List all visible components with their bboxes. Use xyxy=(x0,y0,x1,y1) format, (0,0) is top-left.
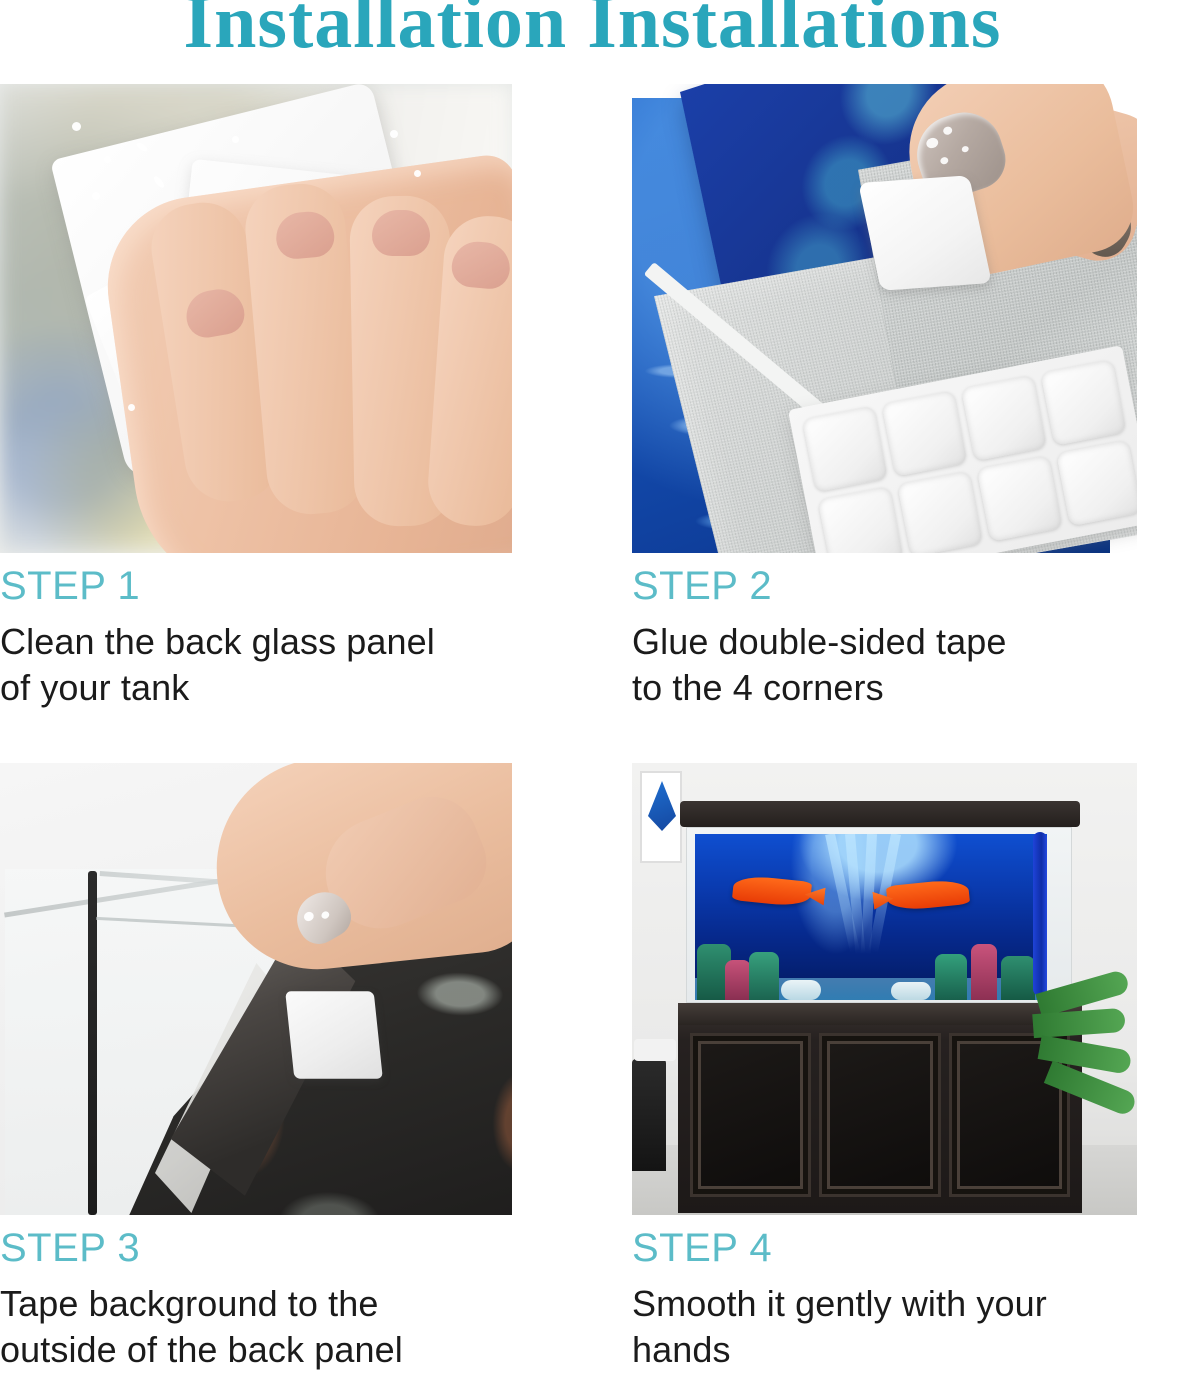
nail-glitter xyxy=(939,156,949,165)
arowana-fish-left xyxy=(732,874,812,908)
fingernail-middle xyxy=(372,210,430,256)
nail-glitter xyxy=(961,145,970,153)
cabinet-door xyxy=(819,1033,940,1197)
step-1-text-line2: of your tank xyxy=(0,665,512,711)
cabinet-top xyxy=(678,1003,1082,1025)
adhesive-pad xyxy=(897,471,983,553)
house-plant xyxy=(1033,977,1137,1157)
page-title-container: Installation Installations xyxy=(0,0,1185,58)
coral-plant xyxy=(725,960,751,1000)
side-furniture xyxy=(632,1059,666,1171)
step-2-caption: STEP 2 Glue double-sided tape to the 4 c… xyxy=(632,553,1137,711)
step-1-text: Clean the back glass panel of your tank xyxy=(0,619,512,711)
rock xyxy=(891,982,931,1000)
adhesive-pad xyxy=(977,455,1063,542)
step-2-label: STEP 2 xyxy=(632,563,1137,609)
step-3-text-line1: Tape background to the xyxy=(0,1281,512,1327)
installed-aquarium-background xyxy=(695,834,1047,1000)
step-4-text-line1: Smooth it gently with your xyxy=(632,1281,1137,1327)
nail-glitter xyxy=(925,136,940,149)
page-title: Installation Installations xyxy=(0,0,1185,58)
step-card-1: STEP 1 Clean the back glass panel of you… xyxy=(0,84,512,711)
step-2-image xyxy=(632,84,1137,553)
adhesive-pad xyxy=(961,375,1047,462)
coral-plant xyxy=(1001,956,1035,1000)
step-4-text-line2: hands xyxy=(632,1327,1137,1373)
cabinet-door xyxy=(690,1033,811,1197)
adhesive-pad-being-peeled xyxy=(858,175,992,290)
water-droplet xyxy=(72,122,81,131)
coral-plant xyxy=(749,952,779,1000)
wall-picture-frame xyxy=(640,771,682,863)
arowana-fish-right xyxy=(886,878,970,912)
step-card-4: STEP 4 Smooth it gently with your hands xyxy=(632,763,1137,1373)
step-4-image xyxy=(632,763,1137,1215)
aquarium-tank xyxy=(686,827,1072,1003)
step-4-text: Smooth it gently with your hands xyxy=(632,1281,1137,1373)
step-3-caption: STEP 3 Tape background to the outside of… xyxy=(0,1215,512,1373)
water-droplet xyxy=(104,156,111,163)
plant-leaf xyxy=(1032,1008,1125,1038)
adhesive-pad xyxy=(818,486,904,553)
installation-steps-page: Installation Installations xyxy=(0,0,1185,1398)
water-droplet xyxy=(414,170,421,177)
nail-glitter xyxy=(942,125,953,135)
adhesive-pad xyxy=(882,390,968,477)
water-droplet xyxy=(128,404,135,411)
step-3-text: Tape background to the outside of the ba… xyxy=(0,1281,512,1373)
nail-glitter xyxy=(302,910,315,923)
tank-black-corner-trim xyxy=(88,871,97,1215)
adhesive-pad-on-poster xyxy=(285,991,383,1079)
step-3-label: STEP 3 xyxy=(0,1225,512,1271)
adhesive-pad xyxy=(1056,440,1137,527)
step-card-2: STEP 2 Glue double-sided tape to the 4 c… xyxy=(632,84,1137,711)
step-4-label: STEP 4 xyxy=(632,1225,1137,1271)
step-1-text-line1: Clean the back glass panel xyxy=(0,619,512,665)
step-3-image xyxy=(0,763,512,1215)
coral-plant xyxy=(935,954,967,1000)
aquarium-hood xyxy=(680,801,1080,827)
steps-grid: STEP 1 Clean the back glass panel of you… xyxy=(0,84,1185,1398)
step-1-label: STEP 1 xyxy=(0,563,512,609)
water-droplet xyxy=(390,130,398,138)
step-2-text: Glue double-sided tape to the 4 corners xyxy=(632,619,1137,711)
step-2-text-line1: Glue double-sided tape xyxy=(632,619,1137,665)
rock xyxy=(781,980,821,1000)
step-3-text-line2: outside of the back panel xyxy=(0,1327,512,1373)
adhesive-pad xyxy=(1041,359,1127,446)
coral-plant xyxy=(971,944,997,1000)
step-card-3: STEP 3 Tape background to the outside of… xyxy=(0,763,512,1373)
step-1-caption: STEP 1 Clean the back glass panel of you… xyxy=(0,553,512,711)
step-4-caption: STEP 4 Smooth it gently with your hands xyxy=(632,1215,1137,1373)
cabinet-doors xyxy=(690,1033,1070,1197)
adhesive-pad xyxy=(802,406,888,493)
water-droplet xyxy=(92,192,100,200)
step-1-image xyxy=(0,84,512,553)
water-droplet xyxy=(232,136,239,143)
step-2-text-line2: to the 4 corners xyxy=(632,665,1137,711)
nail-glitter xyxy=(320,910,330,920)
aquarium-cabinet-stand xyxy=(678,1003,1082,1213)
wall-art-shape xyxy=(648,781,676,831)
blue-filter-tube xyxy=(1033,832,1047,996)
